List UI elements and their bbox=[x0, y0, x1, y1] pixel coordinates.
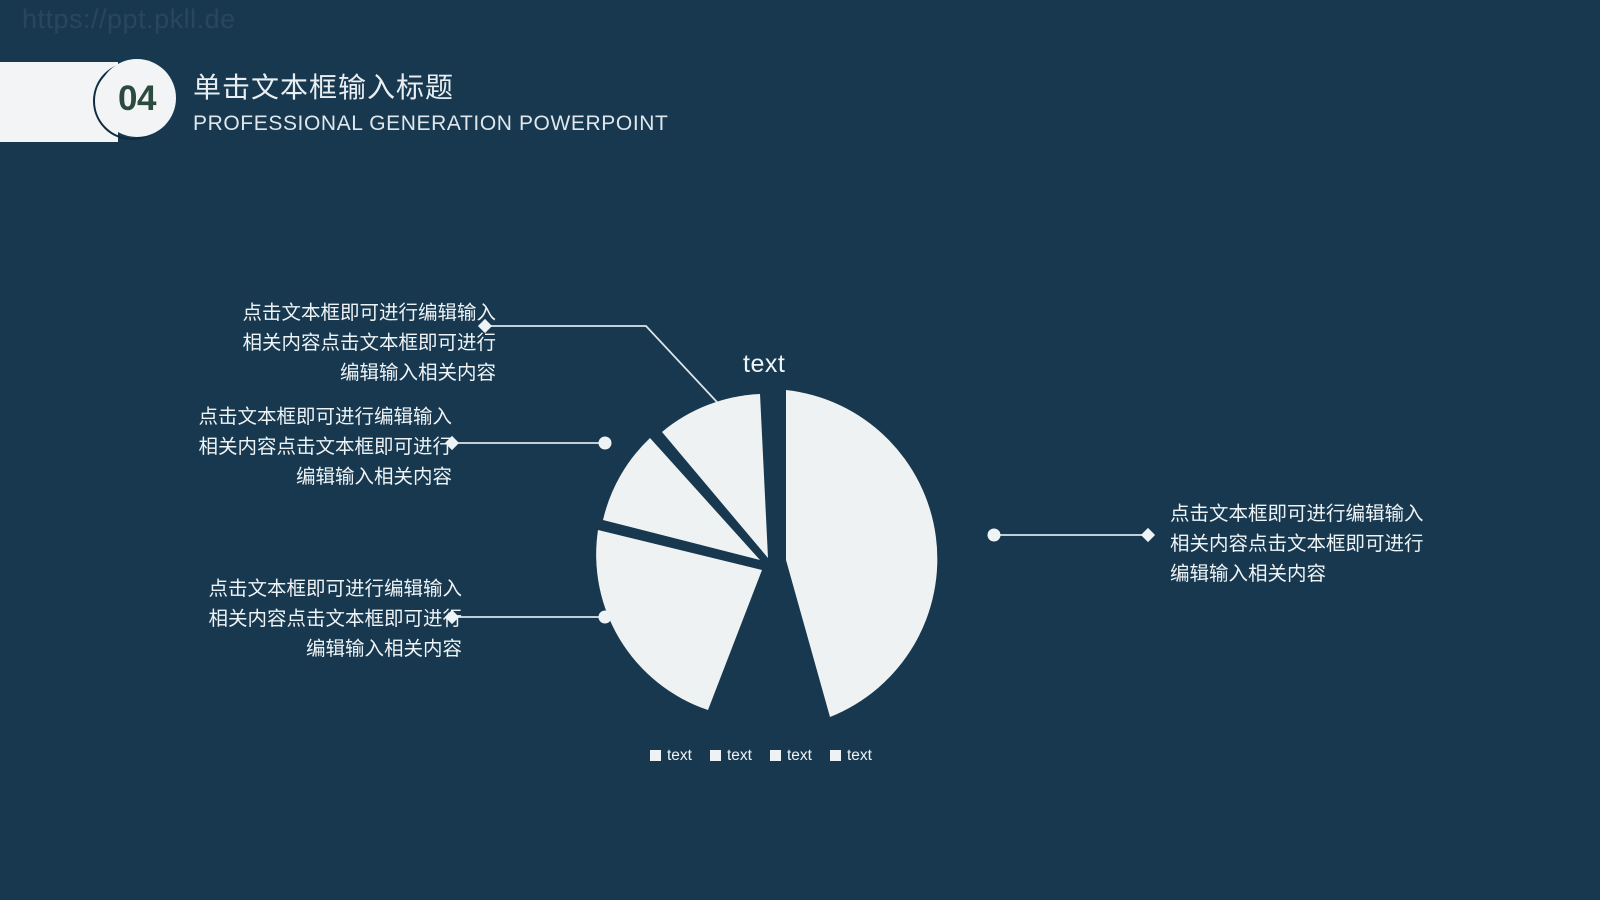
callout-line: 编辑输入相关内容 bbox=[208, 634, 462, 664]
legend-label: text bbox=[727, 748, 752, 764]
pie-slices bbox=[596, 390, 937, 717]
legend-item[interactable]: text bbox=[830, 748, 872, 764]
connector-4 bbox=[988, 528, 1156, 542]
callout-text-4: 点击文本框即可进行编辑输入 相关内容点击文本框即可进行 编辑输入相关内容 bbox=[1170, 499, 1424, 589]
callout-line: 相关内容点击文本框即可进行 bbox=[198, 432, 452, 462]
callout-text-2: 点击文本框即可进行编辑输入 相关内容点击文本框即可进行 编辑输入相关内容 bbox=[198, 402, 452, 492]
legend-swatch-icon bbox=[650, 750, 661, 761]
callout-line: 点击文本框即可进行编辑输入 bbox=[1170, 499, 1424, 529]
legend-label: text bbox=[667, 748, 692, 764]
connector-4-diamond bbox=[1141, 528, 1155, 542]
legend-item[interactable]: text bbox=[710, 748, 752, 764]
legend-item[interactable]: text bbox=[650, 748, 692, 764]
connector-3 bbox=[445, 610, 612, 624]
legend-swatch-icon bbox=[770, 750, 781, 761]
pie-slice-0[interactable] bbox=[786, 390, 937, 717]
callout-line: 编辑输入相关内容 bbox=[198, 462, 452, 492]
callout-line: 编辑输入相关内容 bbox=[242, 358, 496, 388]
legend-label: text bbox=[787, 748, 812, 764]
legend-item[interactable]: text bbox=[770, 748, 812, 764]
callout-line: 点击文本框即可进行编辑输入 bbox=[208, 574, 462, 604]
legend-label: text bbox=[847, 748, 872, 764]
callout-line: 相关内容点击文本框即可进行 bbox=[242, 328, 496, 358]
callout-line: 编辑输入相关内容 bbox=[1170, 559, 1424, 589]
pie-chart bbox=[590, 380, 970, 720]
connector-4-dot bbox=[988, 529, 1001, 542]
pie-chart-svg bbox=[590, 380, 970, 720]
callout-text-1: 点击文本框即可进行编辑输入 相关内容点击文本框即可进行 编辑输入相关内容 bbox=[242, 298, 496, 388]
callout-line: 相关内容点击文本框即可进行 bbox=[1170, 529, 1424, 559]
legend-swatch-icon bbox=[830, 750, 841, 761]
callout-line: 点击文本框即可进行编辑输入 bbox=[198, 402, 452, 432]
legend-swatch-icon bbox=[710, 750, 721, 761]
pie-chart-legend: text text text text bbox=[650, 748, 872, 764]
callout-line: 相关内容点击文本框即可进行 bbox=[208, 604, 462, 634]
pie-slice-3[interactable] bbox=[596, 530, 762, 710]
callout-text-3: 点击文本框即可进行编辑输入 相关内容点击文本框即可进行 编辑输入相关内容 bbox=[208, 574, 462, 664]
pie-chart-title: text bbox=[743, 350, 785, 379]
callout-line: 点击文本框即可进行编辑输入 bbox=[242, 298, 496, 328]
slide-canvas: https://ppt.pkll.de 04 单击文本框输入标题 PROFESS… bbox=[0, 0, 1600, 900]
connector-2 bbox=[445, 436, 612, 450]
